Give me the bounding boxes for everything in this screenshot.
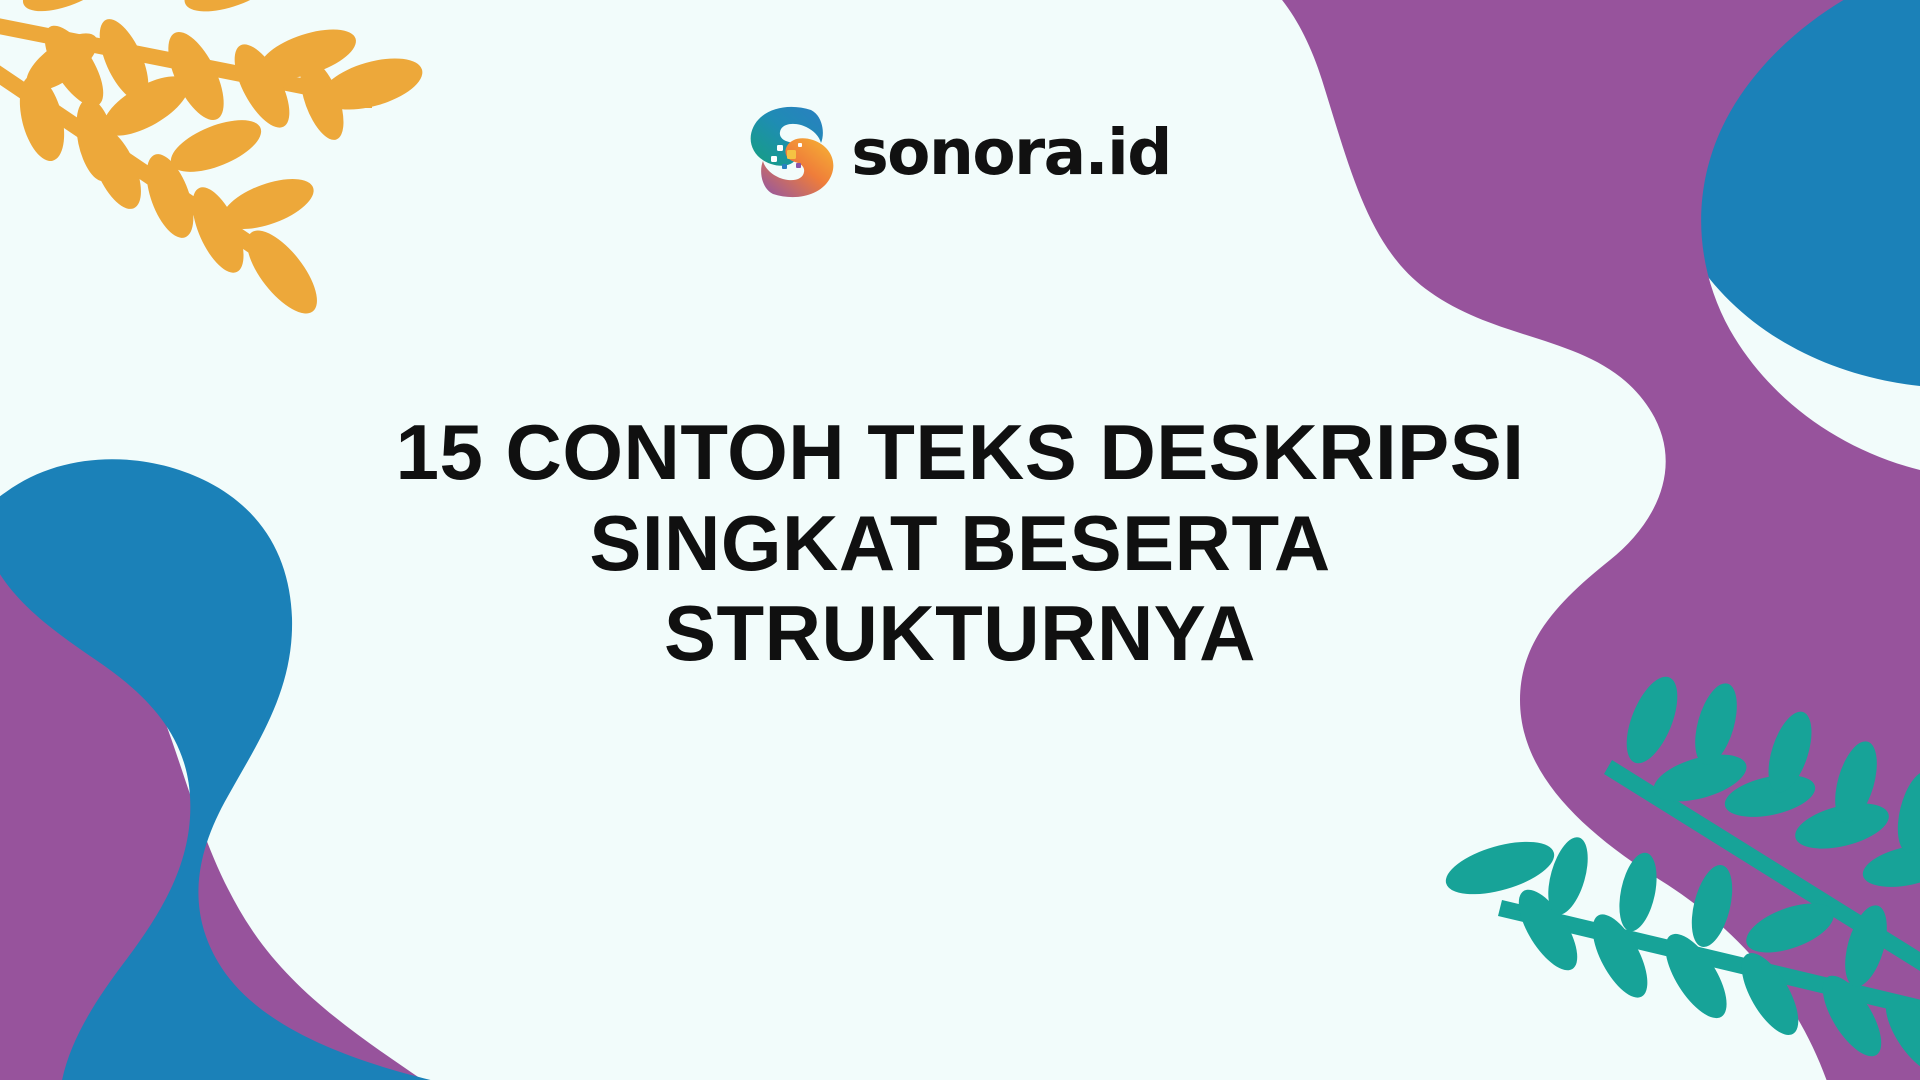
teal-leaf-branch-bottom-right-lower [1440, 831, 1920, 1080]
brand-logo[interactable]: sonora.id [0, 104, 1920, 200]
article-cover-card: sonora.id 15 CONTOH TEKS DESKRIPSI SINGK… [0, 0, 1920, 1080]
sonora-s-monogram-icon [749, 104, 835, 200]
page-title-line-2: SINGKAT BESERTA [370, 498, 1550, 588]
brand-wordmark: sonora.id [851, 121, 1171, 184]
page-title: 15 CONTOH TEKS DESKRIPSI SINGKAT BESERTA… [370, 407, 1550, 678]
page-title-line-1: 15 CONTOH TEKS DESKRIPSI [370, 407, 1550, 497]
page-title-line-3: STRUKTURNYA [370, 588, 1550, 678]
teal-leaf-branch-bottom-right [1604, 670, 1920, 976]
